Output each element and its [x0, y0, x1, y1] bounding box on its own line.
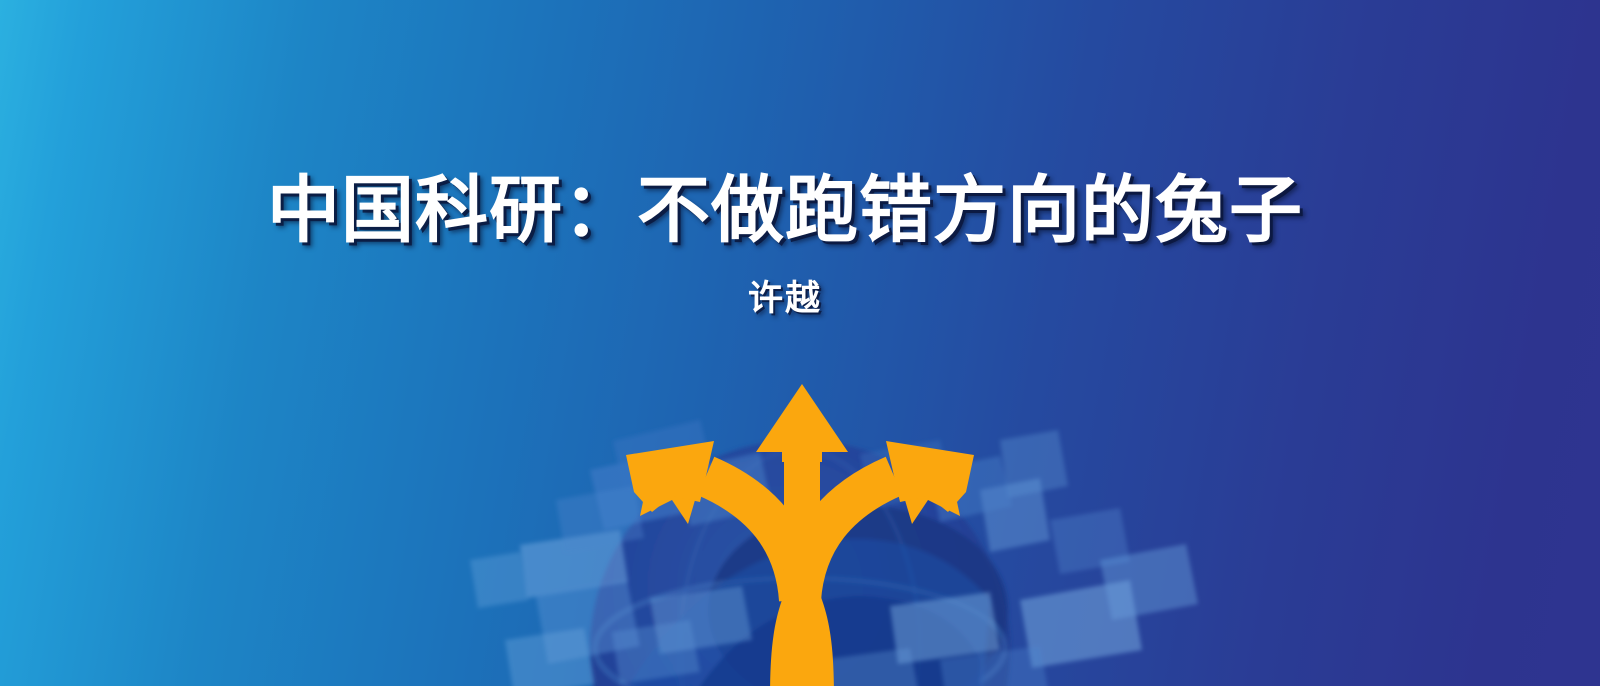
background-artwork: [0, 0, 1600, 686]
presentation-slide: 中国科研：不做跑错方向的兔子 许越: [0, 0, 1600, 686]
